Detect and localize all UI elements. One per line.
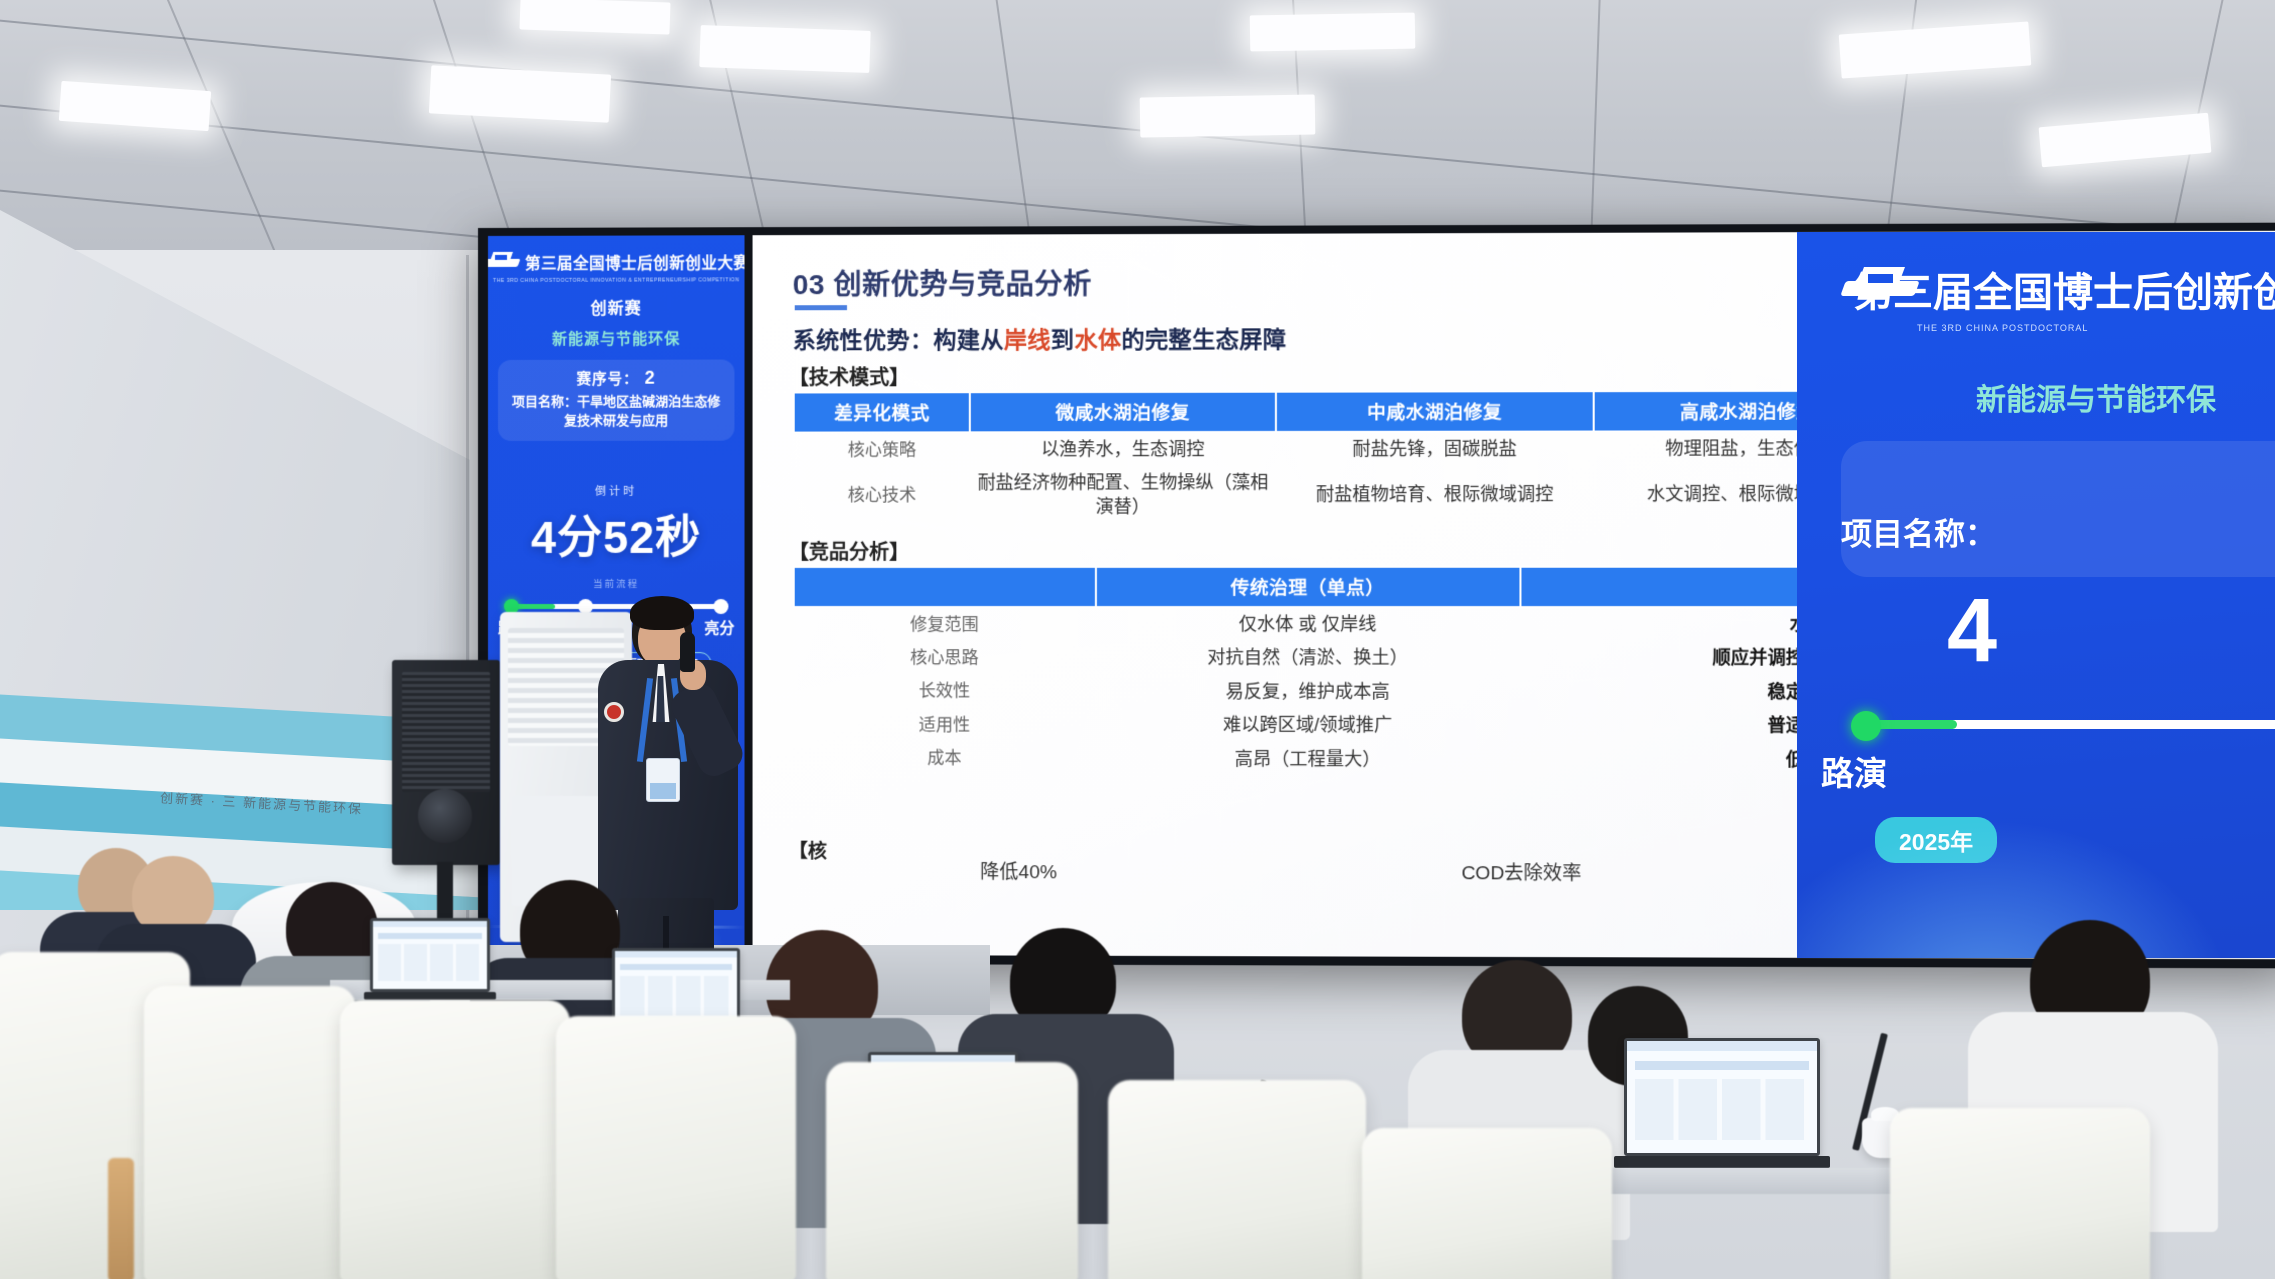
category-label-right: 新能源与节能环保	[1797, 375, 2275, 419]
cell-1-0: 耐盐经济物种配置、生物操纵（藻相演替）	[970, 467, 1276, 524]
subtitle-highlight-1: 岸线	[1004, 327, 1051, 353]
cell-trad-applicability: 难以跨区域/领域推广	[1096, 709, 1521, 743]
ceiling-panel-light	[1250, 13, 1416, 52]
cell-0-1: 耐盐先锋，固碳脱盐	[1276, 432, 1594, 467]
entry-number-row: 赛序号：2	[504, 368, 728, 389]
conference-chair-icon	[826, 1062, 1078, 1279]
row-label-applicability: 适用性	[794, 708, 1096, 742]
chair-arm	[108, 1158, 134, 1279]
countdown-value-right: 4	[1797, 554, 2275, 683]
subtitle-highlight-2: 水体	[1074, 327, 1121, 353]
competitor-label: 【竞品分析】	[789, 536, 910, 565]
conference-chair-icon	[1108, 1080, 1366, 1279]
pa-speaker-icon	[392, 660, 500, 865]
cell-trad-scope: 仅水体 或 仅岸线	[1096, 607, 1521, 642]
cell-trad-cost: 高昂（工程量大）	[1096, 742, 1521, 776]
core-data-0: 降低40%	[789, 857, 1250, 885]
panel-wave-graphic-right	[1797, 788, 2275, 958]
badge-card	[646, 758, 680, 802]
presentation-room-scene: 创新赛 · 三 新能源与节能环保 第三届全国博士后创新创业大赛 THE 3RD …	[0, 0, 2275, 1279]
track-label: 创新赛	[488, 294, 745, 319]
countdown-value: 4分52秒	[488, 500, 745, 565]
competition-title-en: THE 3RD CHINA POSTDOCTORAL INNOVATION & …	[488, 277, 745, 284]
tech-model-label: 【技术模式】	[789, 361, 910, 390]
conference-chair-icon	[1362, 1128, 1612, 1279]
laptop-icon	[370, 918, 490, 1000]
subtitle-prefix: 系统性优势：构建从	[793, 327, 1004, 354]
ceiling-panel-light	[699, 25, 870, 73]
competition-title-en-right: THE 3RD CHINA POSTDOCTORAL	[1797, 323, 2275, 333]
microphone-icon	[680, 632, 695, 672]
entry-no-label: 赛序号：	[577, 372, 639, 388]
stage-progress-bar-right	[1843, 709, 2275, 739]
cell-trad-durability: 易反复，维护成本高	[1096, 675, 1521, 709]
subtitle-mid: 到	[1051, 327, 1075, 353]
stage-flow-label: 当前流程	[488, 576, 745, 590]
col-header-traditional: 传统治理（单点）	[1096, 567, 1521, 607]
conference-chair-icon	[144, 986, 356, 1279]
row-label-0: 核心策略	[794, 432, 970, 467]
competition-title: 第三届全国博士后创新创业大赛	[525, 251, 745, 274]
row-label-approach: 核心思路	[794, 642, 1096, 676]
laptop-icon	[1624, 1038, 1820, 1168]
conference-chair-icon	[340, 1000, 570, 1279]
row-label-cost: 成本	[794, 742, 1096, 776]
cell-trad-approach: 对抗自然（清淤、换土）	[1096, 642, 1521, 676]
slide-title: 03 创新优势与竞品分析	[793, 262, 1092, 303]
cell-0-0: 以渔养水，生态调控	[970, 432, 1276, 467]
title-underline	[795, 305, 847, 310]
row-label-durability: 长效性	[794, 675, 1096, 709]
project-name: 项目名称：干旱地区盐碱湖泊生态修复技术研发与应用	[504, 393, 728, 431]
core-data-1: COD去除效率	[1290, 858, 1754, 886]
project-label-right: 项目名称：	[1797, 459, 2275, 554]
ceiling-panel-light	[429, 65, 611, 122]
stage-name-active-right: 路演	[1797, 739, 2275, 795]
col-header-0: 差异化模式	[794, 392, 970, 432]
cell-1-1: 耐盐植物培育、根际微域调控	[1276, 466, 1594, 523]
competition-info-panel-right: 第三届全国博士后创新创业大赛 THE 3RD CHINA POSTDOCTORA…	[1797, 232, 2275, 958]
presenter-hair	[630, 596, 694, 630]
col-header-blank	[794, 567, 1096, 607]
ceiling-panel-light	[1140, 94, 1316, 137]
graduation-cap-icon	[488, 250, 519, 276]
row-label-scope: 修复范围	[794, 607, 1096, 642]
col-header-1: 微咸水湖泊修复	[970, 392, 1276, 433]
category-label: 新能源与节能环保	[488, 327, 745, 349]
subtitle-suffix: 的完整生态屏障	[1121, 326, 1286, 352]
row-label-1: 核心技术	[794, 467, 970, 524]
lapel-pin-icon	[604, 702, 624, 722]
slide-subtitle: 系统性优势：构建从岸线到水体的完整生态屏障	[793, 320, 1287, 355]
conference-chair-icon	[556, 1016, 796, 1279]
panel-logo-row-right: 第三届全国博士后创新创业大赛	[1797, 232, 2275, 318]
countdown-label: 倒计时	[488, 482, 745, 498]
panel-logo-row: 第三届全国博士后创新创业大赛	[488, 235, 745, 276]
entry-no-value: 2	[645, 368, 656, 388]
col-header-2: 中咸水湖泊修复	[1276, 391, 1594, 432]
ceiling-panel-light	[519, 0, 670, 35]
conference-chair-icon	[1890, 1108, 2150, 1279]
entry-card: 赛序号：2 项目名称：干旱地区盐碱湖泊生态修复技术研发与应用	[498, 360, 734, 441]
